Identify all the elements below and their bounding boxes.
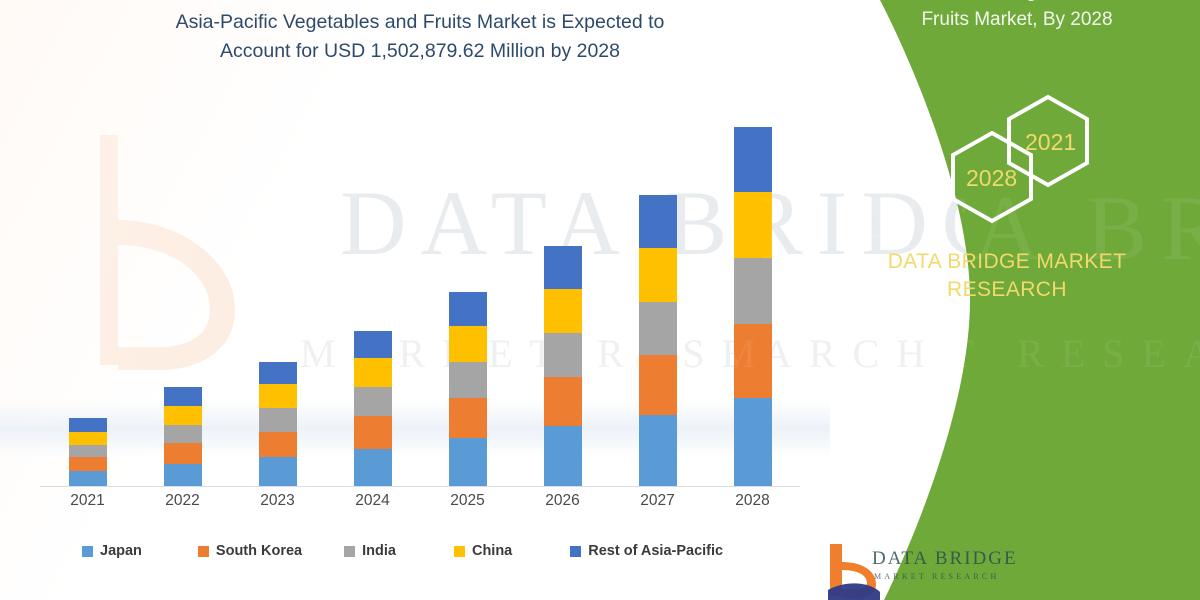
bar-stack — [354, 331, 392, 486]
brand-line-1: DATA BRIDGE MARKET — [888, 250, 1127, 273]
title-line-1: Asia-Pacific Vegetables and Fruits Marke… — [176, 11, 665, 33]
stacked-bar-chart: 20212022202320242025202620272028 — [40, 110, 800, 492]
bar-segment — [164, 443, 202, 463]
bar-segment — [354, 416, 392, 448]
bar-segment — [354, 449, 392, 486]
legend-label: Rest of Asia-Pacific — [588, 543, 723, 559]
x-axis-label: 2024 — [325, 492, 420, 510]
x-axis-label: 2021 — [40, 492, 135, 510]
green-heading-line-2: Fruits Market, By 2028 — [921, 9, 1112, 30]
bar-segment — [259, 457, 297, 486]
bar-segment — [259, 408, 297, 432]
bar-stack — [449, 292, 487, 486]
legend-swatch-icon — [454, 546, 465, 557]
hexagon-group: 2021 2028 — [930, 95, 1110, 225]
footer-logo-name: DATA BRIDGE — [872, 548, 1018, 570]
bar-stack — [259, 362, 297, 486]
bar-segment — [69, 471, 107, 486]
bar-segment — [544, 246, 582, 289]
x-axis-line — [40, 486, 800, 487]
bar-segment — [354, 358, 392, 387]
bar-segment — [639, 302, 677, 355]
bar-segment — [354, 331, 392, 358]
legend-item[interactable]: Rest of Asia-Pacific — [570, 543, 723, 559]
brand-line-2: RESEARCH — [947, 278, 1067, 301]
bar-segment — [449, 438, 487, 486]
hexagon-back-label: 2021 — [1025, 129, 1076, 156]
bar-segment — [544, 426, 582, 486]
legend-item[interactable]: South Korea — [198, 543, 302, 559]
x-axis-label: 2028 — [705, 492, 800, 510]
x-axis-label: 2027 — [610, 492, 705, 510]
bar-segment — [69, 445, 107, 457]
bar-segment — [259, 384, 297, 408]
x-axis-label: 2023 — [230, 492, 325, 510]
footer-logo: DATA BRIDGE MARKET RESEARCH — [820, 538, 1035, 600]
bar-stack — [69, 418, 107, 486]
bar-segment — [449, 326, 487, 362]
green-heading-line-1: Asia-Pacific Vegetables and — [899, 0, 1135, 2]
bar-segment — [734, 127, 772, 192]
legend-swatch-icon — [198, 546, 209, 557]
bar-stack — [544, 246, 582, 486]
bar-segment — [449, 398, 487, 439]
legend-swatch-icon — [82, 546, 93, 557]
hexagon-icons — [930, 95, 1110, 225]
chart-plot-area — [40, 110, 800, 487]
bar-segment — [639, 248, 677, 302]
bar-segment — [449, 292, 487, 326]
hexagon-front-label: 2028 — [966, 165, 1017, 192]
title-line-2: Account for USD 1,502,879.62 Million by … — [220, 40, 620, 62]
bar-stack — [164, 387, 202, 486]
bar-segment — [544, 333, 582, 377]
legend-swatch-icon — [344, 546, 355, 557]
legend-label: India — [362, 543, 396, 559]
x-axis-tick-labels: 20212022202320242025202620272028 — [40, 492, 800, 522]
legend-item[interactable]: Japan — [82, 543, 142, 559]
legend-label: China — [472, 543, 512, 559]
bar-segment — [544, 289, 582, 333]
bar-segment — [164, 464, 202, 486]
brand-name: DATA BRIDGE MARKET RESEARCH — [842, 248, 1172, 305]
x-axis-label: 2026 — [515, 492, 610, 510]
x-axis-label: 2022 — [135, 492, 230, 510]
green-panel-heading: Asia-Pacific Vegetables and Fruits Marke… — [852, 0, 1182, 33]
legend-swatch-icon — [570, 546, 581, 557]
infographic-canvas: DATA BRIDGE MARKET RESEARCH Asia-Pacific… — [0, 0, 1200, 600]
footer-logo-subtitle: MARKET RESEARCH — [874, 572, 999, 581]
chart-legend: JapanSouth KoreaIndiaChinaRest of Asia-P… — [40, 538, 800, 564]
bar-segment — [734, 258, 772, 324]
bar-stack — [639, 195, 677, 486]
bar-segment — [544, 377, 582, 426]
footer-logo-mark-icon — [820, 540, 880, 600]
bar-segment — [734, 192, 772, 258]
bar-segment — [734, 324, 772, 397]
bar-segment — [164, 406, 202, 425]
bar-segment — [69, 457, 107, 471]
legend-label: Japan — [100, 543, 142, 559]
bar-segment — [734, 398, 772, 486]
x-axis-label: 2025 — [420, 492, 515, 510]
bar-segment — [69, 418, 107, 432]
bar-segment — [354, 387, 392, 416]
bar-segment — [639, 195, 677, 248]
bar-segment — [639, 415, 677, 486]
bar-segment — [69, 432, 107, 446]
bar-stack — [734, 127, 772, 486]
bar-segment — [259, 362, 297, 384]
bar-segment — [259, 432, 297, 458]
legend-item[interactable]: China — [454, 543, 512, 559]
bar-segment — [164, 425, 202, 444]
legend-item[interactable]: India — [344, 543, 396, 559]
bar-segment — [164, 387, 202, 406]
legend-label: South Korea — [216, 543, 302, 559]
page-title: Asia-Pacific Vegetables and Fruits Marke… — [40, 8, 800, 67]
bar-segment — [639, 355, 677, 415]
bar-segment — [449, 362, 487, 398]
